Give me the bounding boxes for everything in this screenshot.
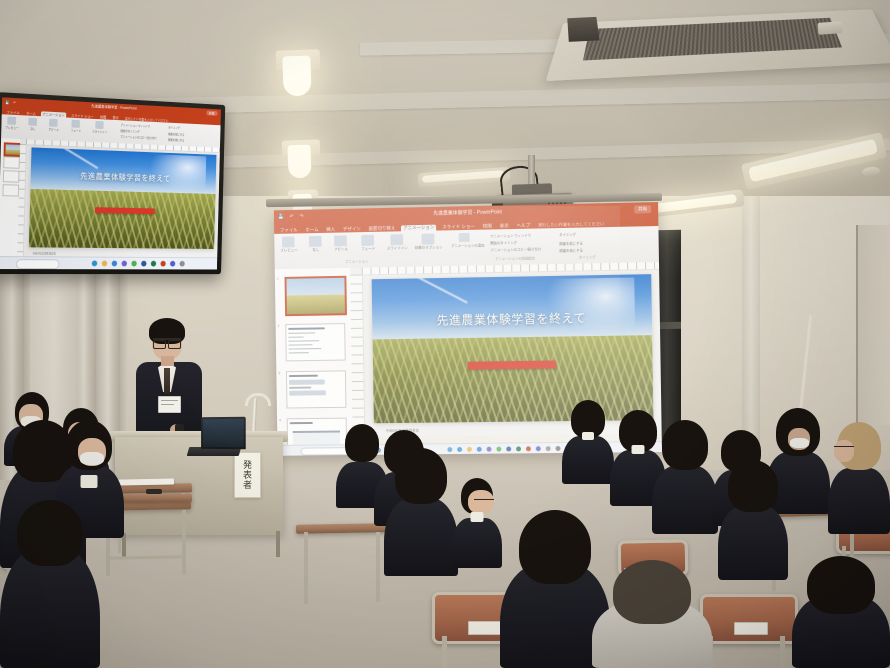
audience-head: [807, 556, 875, 614]
audience-head: [613, 560, 691, 624]
thumbnail-number-2: 2: [278, 324, 280, 328]
monitor-excel-icon[interactable]: [151, 261, 156, 267]
ribbon-fade-label: フェード: [357, 247, 380, 252]
monitor-store-icon[interactable]: [122, 261, 128, 267]
monitor-chrome-icon[interactable]: [131, 261, 136, 267]
monitor-none-icon[interactable]: [28, 118, 37, 126]
save-icon[interactable]: 💾: [278, 214, 284, 220]
ribbon-none-label: なし: [305, 248, 326, 253]
none-icon[interactable]: [309, 236, 322, 247]
audience-head: [395, 448, 447, 504]
monitor-slide-field-photo: [29, 189, 216, 249]
wall-display-monitor: 💾 ↶ 先進農業体験学習 - PowerPoint 共有 ✕ ファイル ホーム …: [0, 92, 225, 274]
monitor-settings-icon[interactable]: [180, 261, 185, 267]
monitor-appear-icon[interactable]: [49, 119, 58, 127]
audience-member-blond: [828, 422, 890, 534]
desk-leg: [182, 510, 186, 574]
audience-head: [662, 420, 708, 470]
slide-thumbnail-2[interactable]: [285, 323, 345, 361]
audience-member-foreground: [592, 560, 712, 668]
presenter-glasses: [153, 338, 181, 346]
desk-pen: [146, 489, 162, 494]
presenter-name-badge: [158, 396, 181, 413]
desk-leg: [304, 532, 308, 604]
air-conditioner-sensor: [818, 21, 843, 35]
ribbon-effect-options-label: 効果のオプション: [413, 245, 444, 251]
monitor-screen: 💾 ↶ 先進農業体験学習 - PowerPoint 共有 ✕ ファイル ホーム …: [0, 97, 221, 269]
monitor-slide-thumbnail-2[interactable]: [3, 156, 20, 169]
monitor-preview-icon[interactable]: [7, 117, 16, 125]
powerpoint-icon[interactable]: [526, 446, 531, 451]
ribbon-section-timing: タイミング: [567, 254, 607, 260]
fade-icon[interactable]: [361, 235, 374, 246]
excel-icon[interactable]: [516, 446, 521, 451]
slide-thumbnail-3[interactable]: [286, 370, 346, 408]
laptop-lid: [201, 417, 246, 450]
store-icon[interactable]: [487, 446, 492, 451]
monitor-move-earlier-label[interactable]: 順番を前にする: [168, 132, 202, 137]
redo-icon[interactable]: ↷: [299, 213, 303, 219]
monitor-fade-label: フェード: [68, 128, 85, 133]
glasses-icon: [474, 499, 494, 505]
mail-icon[interactable]: [477, 446, 482, 451]
desk-center: [296, 523, 386, 534]
air-conditioner-vent: [567, 17, 599, 42]
audience-member-seated-side: [452, 478, 502, 568]
desk-leg: [376, 532, 380, 602]
audience-head: [519, 510, 591, 584]
audience-member: [562, 400, 614, 484]
monitor-flyin-icon[interactable]: [95, 121, 103, 129]
monitor-slide-thumbnail-4[interactable]: [2, 184, 19, 196]
monitor-timing-label: タイミング: [168, 125, 194, 130]
laptop-screen: [203, 419, 244, 447]
ribbon-move-earlier-label[interactable]: 順番を前にする: [559, 240, 611, 246]
podium-leg: [276, 531, 280, 557]
monitor-explorer-icon[interactable]: [102, 261, 108, 267]
face-mask: [80, 452, 104, 465]
thumbnail-number-4: 4: [279, 418, 281, 422]
audience-member: [652, 420, 718, 534]
monitor-slide-thumbnail-3[interactable]: [3, 170, 20, 182]
chair-leg: [442, 636, 447, 668]
share-button[interactable]: 共有: [634, 205, 651, 213]
audience-head: [728, 460, 778, 512]
audience-member: [718, 460, 788, 580]
monitor-fade-icon[interactable]: [71, 120, 80, 128]
teams-icon[interactable]: [536, 446, 541, 451]
monitor-slide-footer: 令和6年度成果発表会: [32, 251, 55, 255]
monitor-appear-label: アピール: [45, 127, 62, 132]
monitor-flyin-label: スライドイン: [90, 129, 110, 134]
fly-in-icon[interactable]: [390, 234, 403, 245]
settings-icon[interactable]: [556, 446, 561, 451]
ceiling-dome-light: [282, 56, 311, 97]
ribbon-timing-label: タイミング: [559, 231, 599, 237]
monitor-move-later-label[interactable]: 順番を後にする: [168, 138, 202, 143]
audience-head: [17, 500, 83, 566]
monitor-animation-pane-label[interactable]: アニメーション ウィンドウ: [121, 123, 157, 129]
monitor-mail-icon[interactable]: [112, 261, 118, 267]
desk-shelf: [112, 494, 192, 502]
monitor-none-label: なし: [25, 126, 40, 131]
ribbon-flyin-label: スライドイン: [383, 246, 412, 252]
audience-member-foreground: [792, 556, 890, 668]
slide-name-banner: [467, 360, 557, 369]
monitor-powerpoint-icon[interactable]: [160, 261, 165, 267]
media-icon[interactable]: [546, 446, 551, 451]
face-mask: [790, 438, 809, 448]
wall-panel-right: [856, 225, 890, 425]
monitor-word-icon[interactable]: [141, 261, 146, 267]
appear-icon[interactable]: [334, 235, 347, 246]
thumbnail-number-1: 1: [277, 277, 279, 281]
chair-id-label: [468, 621, 503, 635]
ribbon-move-later-label[interactable]: 順番を後にする: [559, 247, 611, 253]
preview-icon[interactable]: [282, 236, 295, 247]
chair-id-label: [734, 622, 767, 635]
thumbnail-number-3: 3: [278, 371, 280, 375]
slide-thumbnail-pane[interactable]: 1 2 3 4: [275, 268, 354, 438]
monitor-edge-icon[interactable]: [92, 260, 98, 266]
word-icon[interactable]: [506, 446, 511, 451]
audience-member: [384, 448, 458, 576]
ribbon-animation-painter-label[interactable]: アニメーションのコピー/貼り付け: [490, 246, 547, 252]
ribbon-section-animation: アニメーション: [328, 258, 386, 264]
undo-icon[interactable]: ↶: [290, 213, 294, 219]
vertical-ruler: [350, 274, 365, 444]
monitor-slide-name-banner: [95, 207, 154, 214]
chrome-icon[interactable]: [496, 446, 501, 451]
presenter-necktie: [164, 368, 170, 394]
monitor-teams-icon[interactable]: [170, 261, 175, 267]
ribbon-appear-label: アピール: [329, 247, 352, 252]
ribbon-trigger-label[interactable]: 開始のタイミング: [490, 239, 541, 245]
monitor-taskbar[interactable]: [0, 256, 217, 269]
monitor-search-input[interactable]: [16, 260, 60, 269]
monitor-undo-icon[interactable]: ↶: [13, 100, 16, 104]
presenter-neck: [161, 356, 174, 366]
monitor-trigger-label[interactable]: 開始のタイミング: [121, 129, 157, 134]
ribbon-animation-pane-label[interactable]: アニメーション ウィンドウ: [490, 232, 541, 238]
ribbon-section-advanced: アニメーションの詳細設定: [481, 255, 550, 261]
monitor-slide-canvas[interactable]: 先進農業体験学習を終えて: [29, 147, 217, 249]
ribbon-add-animation-label: アニメーションの追加: [451, 242, 484, 248]
ribbon-preview-label: プレビュー: [277, 248, 300, 253]
chair-leg: [780, 636, 785, 668]
monitor-share-button[interactable]: 共有: [206, 111, 217, 116]
add-animation-icon[interactable]: [459, 233, 470, 242]
slide-thumbnail-1[interactable]: [285, 276, 347, 316]
podium-presenter-sign: 発表者: [234, 452, 261, 498]
monitor-preview-label: プレビュー: [3, 125, 20, 130]
monitor-animation-painter-label[interactable]: アニメーションのコピー/貼り付け: [120, 135, 161, 141]
explorer-icon[interactable]: [467, 446, 472, 451]
monitor-save-icon[interactable]: 💾: [5, 100, 9, 104]
effect-options-icon[interactable]: [422, 234, 435, 245]
classroom-presentation-scene: 💾 ↶ ↷ 先進農業体験学習 - PowerPoint 共有 ✕ ファイル ホー…: [0, 0, 890, 668]
podium-sign-text: 発表者: [241, 460, 254, 490]
glasses-icon: [834, 446, 854, 452]
monitor-slide-area: 先進農業体験学習を終えて 令和6年度成果発表会: [17, 139, 220, 258]
ceiling-dome-light: [287, 145, 311, 179]
monitor-workspace: 先進農業体験学習を終えて 令和6年度成果発表会: [0, 138, 220, 258]
audience-member-foreground: [0, 500, 100, 668]
desk-papers: [118, 479, 174, 486]
